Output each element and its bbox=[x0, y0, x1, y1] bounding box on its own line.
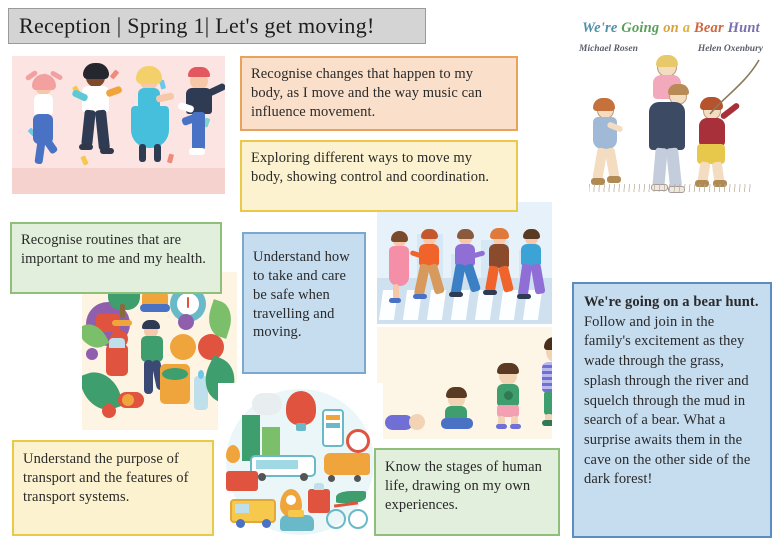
illustration-human-growth-stages bbox=[377, 327, 552, 439]
runner-torso bbox=[141, 336, 163, 362]
illustration-crosswalk bbox=[377, 202, 552, 324]
runner-hair bbox=[142, 320, 160, 329]
book-summary-card: We're going on a bear hunt. Follow and j… bbox=[572, 282, 772, 538]
van-wheel bbox=[262, 519, 271, 528]
orange bbox=[170, 334, 196, 360]
train-wheel bbox=[328, 475, 335, 482]
bus-wheel bbox=[258, 473, 266, 481]
objective-text: Exploring different ways to move my body… bbox=[251, 149, 507, 187]
dancer-figure bbox=[180, 64, 225, 168]
train-icon bbox=[324, 453, 370, 475]
book-cover-authors: Michael Rosen Helen Oxenbury bbox=[565, 44, 777, 54]
apple bbox=[198, 334, 224, 360]
knowledge-organiser-page: Reception | Spring 1| Let's get moving! bbox=[0, 0, 780, 552]
map-pin-icon bbox=[226, 445, 240, 463]
growth-stage-boy bbox=[535, 337, 552, 431]
bottle-cap bbox=[198, 370, 204, 379]
smoothie-jar bbox=[106, 344, 128, 376]
clock-icon bbox=[346, 429, 370, 453]
growth-stage-child bbox=[489, 363, 527, 431]
book-cover-title: We're Going on a Bear Hunt bbox=[565, 20, 777, 37]
book-summary-title: We're going on a bear hunt. bbox=[584, 294, 759, 310]
figure-girl bbox=[585, 98, 629, 190]
berry bbox=[178, 314, 194, 330]
dancers-floor bbox=[12, 168, 225, 194]
dancer-figure bbox=[26, 70, 68, 168]
growth-stage-baby bbox=[385, 411, 429, 431]
leaf bbox=[203, 299, 236, 339]
objective-card-travel-safety: Understand how to take and care be safe … bbox=[242, 232, 366, 374]
objective-text: Understand how to take and care be safe … bbox=[253, 248, 355, 342]
objective-text: Understand the purpose of transport and … bbox=[23, 450, 203, 507]
illustration-transport-systems bbox=[218, 383, 383, 541]
luggage-handle bbox=[314, 483, 324, 490]
berry-small bbox=[86, 348, 98, 360]
luggage-icon bbox=[308, 489, 330, 513]
figure-father bbox=[641, 58, 695, 194]
objective-card-routines-health: Recognise routines that are important to… bbox=[10, 222, 222, 294]
apple-bottom bbox=[102, 404, 116, 418]
dumbbell-bar bbox=[112, 320, 132, 326]
mat-end bbox=[122, 394, 134, 406]
objective-card-body-changes: Recognise changes that happen to my body… bbox=[240, 56, 518, 131]
book-summary-body: Follow and join in the family's exciteme… bbox=[584, 314, 750, 488]
book-title-word: Hunt bbox=[728, 20, 760, 36]
illustration-healthy-lifestyle bbox=[82, 272, 237, 430]
cloud-icon bbox=[252, 393, 282, 415]
jar-lid bbox=[109, 338, 125, 348]
bicycle-icon bbox=[326, 509, 346, 529]
phone-screen-row bbox=[326, 415, 340, 420]
van-window bbox=[235, 504, 249, 513]
map-pin-hole bbox=[286, 495, 296, 505]
taxi-icon bbox=[280, 515, 314, 531]
hot-air-balloon-icon bbox=[286, 391, 316, 425]
objective-text: Recognise changes that happen to my body… bbox=[251, 65, 507, 122]
book-author: Michael Rosen bbox=[579, 44, 638, 54]
dancer-figure bbox=[74, 62, 122, 168]
objective-text: Know the stages of human life, drawing o… bbox=[385, 458, 549, 515]
pedestrian bbox=[483, 230, 517, 304]
yoga-mat bbox=[140, 304, 170, 312]
tree-trunk bbox=[120, 304, 125, 318]
train-wheel bbox=[354, 475, 361, 482]
objective-card-exploring-movement: Exploring different ways to move my body… bbox=[240, 140, 518, 212]
page-title: Reception | Spring 1| Let's get moving! bbox=[8, 8, 426, 44]
pedestrian bbox=[413, 230, 449, 304]
objective-card-transport-purpose: Understand the purpose of transport and … bbox=[12, 440, 214, 536]
book-title-word: a bbox=[683, 20, 694, 36]
page-title-text: Reception | Spring 1| Let's get moving! bbox=[19, 13, 375, 39]
van-wheel bbox=[236, 519, 245, 528]
book-title-word: Going bbox=[621, 20, 663, 36]
stick-icon bbox=[705, 56, 765, 116]
dancer-figure bbox=[130, 64, 174, 168]
growth-stage-toddler bbox=[439, 387, 479, 431]
ground-texture bbox=[589, 184, 754, 192]
pedestrian bbox=[449, 230, 483, 304]
objective-text: Recognise routines that are important to… bbox=[21, 231, 211, 269]
balloon-basket bbox=[296, 423, 306, 431]
bus-windows bbox=[256, 460, 298, 469]
book-cover-image: We're Going on a Bear Hunt Michael Rosen… bbox=[565, 2, 777, 200]
bus-wheel bbox=[300, 473, 308, 481]
book-title-word: on bbox=[663, 20, 683, 36]
pedestrian bbox=[385, 232, 415, 304]
bicycle-wheel bbox=[348, 509, 368, 529]
phone-screen-row bbox=[326, 423, 340, 428]
pedestrian bbox=[515, 230, 549, 304]
illustration-dancers bbox=[12, 56, 225, 194]
clock-hand bbox=[187, 297, 189, 308]
jar-label bbox=[162, 368, 188, 380]
freight-icon bbox=[226, 471, 258, 491]
book-illustrator: Helen Oxenbury bbox=[698, 44, 763, 54]
book-title-word: Bear bbox=[694, 20, 728, 36]
objective-card-human-life-stages: Know the stages of human life, drawing o… bbox=[374, 448, 560, 536]
taxi-sign bbox=[288, 510, 304, 517]
book-title-word: We're bbox=[582, 20, 621, 36]
